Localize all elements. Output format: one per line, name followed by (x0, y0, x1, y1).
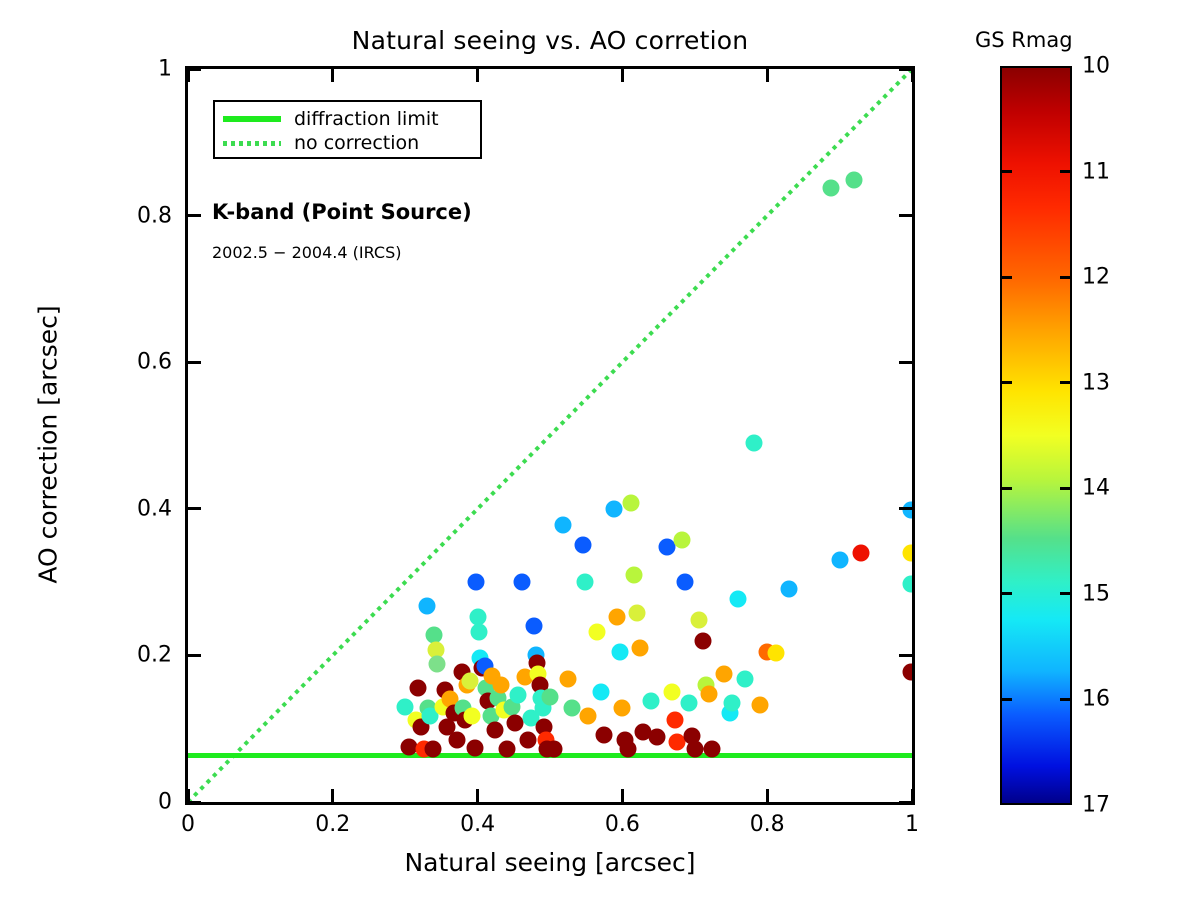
scatter-point (608, 609, 625, 626)
colorbar-tick (1060, 698, 1070, 701)
colorbar-tick-label: 15 (1082, 581, 1110, 606)
colorbar-tick (1002, 487, 1012, 490)
scatter-point (410, 680, 427, 697)
scatter-point (701, 685, 718, 702)
scatter-point (625, 566, 642, 583)
scatter-point (592, 684, 609, 701)
scatter-point (737, 670, 754, 687)
scatter-point (631, 640, 648, 657)
scatter-point (902, 544, 912, 561)
scatter-point (466, 740, 483, 757)
scatter-point (746, 434, 763, 451)
scatter-point (695, 632, 712, 649)
x-axis-tick (331, 789, 334, 802)
scatter-point (589, 623, 606, 640)
annotation-dates: 2002.5 − 2004.4 (IRCS) (212, 243, 401, 262)
scatter-point (902, 575, 912, 592)
y-axis-tick (188, 361, 201, 364)
scatter-point (449, 731, 466, 748)
scatter-point (663, 684, 680, 701)
scatter-point (579, 707, 596, 724)
colorbar-tick-label: 16 (1082, 687, 1110, 712)
x-axis-tick (766, 69, 769, 82)
y-axis-tick (899, 654, 912, 657)
colorbar-tick (1060, 592, 1070, 595)
scatter-point (486, 722, 503, 739)
x-axis-tick-label: 1 (877, 812, 947, 837)
x-axis-tick-label: 0.4 (443, 812, 513, 837)
x-axis-tick (476, 789, 479, 802)
x-axis-tick-label: 0.6 (587, 812, 657, 837)
scatter-point (596, 726, 613, 743)
y-axis-tick-label: 1 (82, 57, 172, 82)
scatter-point (853, 544, 870, 561)
scatter-point (471, 623, 488, 640)
scatter-point (704, 741, 721, 758)
scatter-point (462, 673, 479, 690)
y-axis-tick (188, 801, 201, 803)
x-axis-label: Natural seeing [arcsec] (185, 848, 915, 877)
scatter-point (498, 741, 515, 758)
scatter-point (545, 741, 562, 758)
scatter-point (560, 670, 577, 687)
scatter-point (563, 700, 580, 717)
colorbar-tick (1002, 698, 1012, 701)
colorbar-tick (1060, 170, 1070, 173)
scatter-point (730, 590, 747, 607)
scatter-point (676, 574, 693, 591)
scatter-point (902, 663, 912, 680)
y-axis-tick-label: 0.4 (82, 496, 172, 521)
scatter-point (514, 574, 531, 591)
scatter-point (724, 695, 741, 712)
y-axis-tick (188, 654, 201, 657)
scatter-point (605, 500, 622, 517)
x-axis-tick (911, 69, 913, 82)
x-axis-tick (476, 69, 479, 82)
scatter-point (628, 604, 645, 621)
y-axis-tick-label: 0.2 (82, 643, 172, 668)
scatter-point (822, 179, 839, 196)
scatter-point (520, 731, 537, 748)
y-axis-tick (899, 801, 912, 803)
colorbar-tick (1002, 592, 1012, 595)
colorbar-tick (1060, 487, 1070, 490)
colorbar-tick (1002, 170, 1012, 173)
scatter-point (576, 574, 593, 591)
colorbar (1000, 66, 1072, 805)
scatter-point (691, 612, 708, 629)
scatter-point (846, 172, 863, 189)
plot-inner (188, 69, 912, 802)
y-axis-tick (899, 214, 912, 217)
colorbar-tick-label: 12 (1082, 265, 1110, 290)
legend-solid-line-swatch (223, 112, 285, 126)
x-axis-tick (766, 789, 769, 802)
legend-entry-diffraction-limit: diffraction limit (223, 107, 472, 131)
scatter-point (780, 581, 797, 598)
scatter-point (555, 516, 572, 533)
x-axis-tick (188, 69, 190, 82)
legend-dotted-line-swatch (223, 136, 285, 150)
legend-box: diffraction limit no correction (213, 100, 482, 159)
scatter-point (424, 741, 441, 758)
scatter-point (468, 574, 485, 591)
scatter-point (715, 665, 732, 682)
colorbar-tick-label: 11 (1082, 159, 1110, 184)
scatter-point (751, 696, 768, 713)
x-axis-tick (331, 69, 334, 82)
scatter-point (686, 741, 703, 758)
scatter-point (574, 537, 591, 554)
colorbar-tick (1060, 276, 1070, 279)
colorbar-tick (1002, 276, 1012, 279)
annotation-band: K-band (Point Source) (212, 200, 472, 224)
scatter-point (614, 700, 631, 717)
scatter-point (643, 692, 660, 709)
scatter-point (507, 714, 524, 731)
colorbar-tick-label: 17 (1082, 793, 1110, 818)
y-axis-tick (188, 214, 201, 217)
scatter-point (492, 676, 509, 693)
y-axis-tick-label: 0 (82, 790, 172, 815)
colorbar-title: GS Rmag (975, 28, 1073, 52)
figure-canvas: Natural seeing vs. AO corretion diffract… (0, 0, 1201, 900)
scatter-point (463, 707, 480, 724)
x-axis-tick (621, 69, 624, 82)
scatter-point (767, 645, 784, 662)
scatter-point (611, 643, 628, 660)
y-axis-label: AO correction [arcsec] (34, 75, 63, 815)
scatter-point (620, 741, 637, 758)
colorbar-tick-label: 10 (1082, 54, 1110, 79)
scatter-point (831, 552, 848, 569)
scatter-point (418, 597, 435, 614)
colorbar-tick-label: 13 (1082, 370, 1110, 395)
colorbar-tick (1002, 381, 1012, 384)
scatter-point (673, 531, 690, 548)
x-axis-tick-label: 0.2 (298, 812, 368, 837)
y-axis-tick-label: 0.8 (82, 203, 172, 228)
x-axis-tick-label: 0.8 (732, 812, 802, 837)
scatter-point (649, 729, 666, 746)
scatter-point (623, 494, 640, 511)
legend-label-no-correction: no correction (294, 134, 419, 153)
plot-axes (185, 66, 915, 805)
scatter-point (681, 695, 698, 712)
x-axis-tick-label: 0 (153, 812, 223, 837)
scatter-point (429, 656, 446, 673)
colorbar-tick (1060, 381, 1070, 384)
y-axis-tick (188, 507, 201, 510)
y-axis-tick-label: 0.6 (82, 350, 172, 375)
colorbar-tick-label: 14 (1082, 476, 1110, 501)
y-axis-tick (188, 69, 201, 71)
scatter-point (510, 686, 527, 703)
legend-entry-no-correction: no correction (223, 131, 472, 155)
y-axis-tick (899, 361, 912, 364)
scatter-point (542, 689, 559, 706)
x-axis-tick (621, 789, 624, 802)
y-axis-tick (899, 507, 912, 510)
scatter-point (666, 711, 683, 728)
legend-label-diffraction-limit: diffraction limit (294, 110, 439, 129)
chart-title: Natural seeing vs. AO corretion (185, 26, 915, 55)
scatter-point (526, 618, 543, 635)
y-axis-tick (899, 69, 912, 71)
